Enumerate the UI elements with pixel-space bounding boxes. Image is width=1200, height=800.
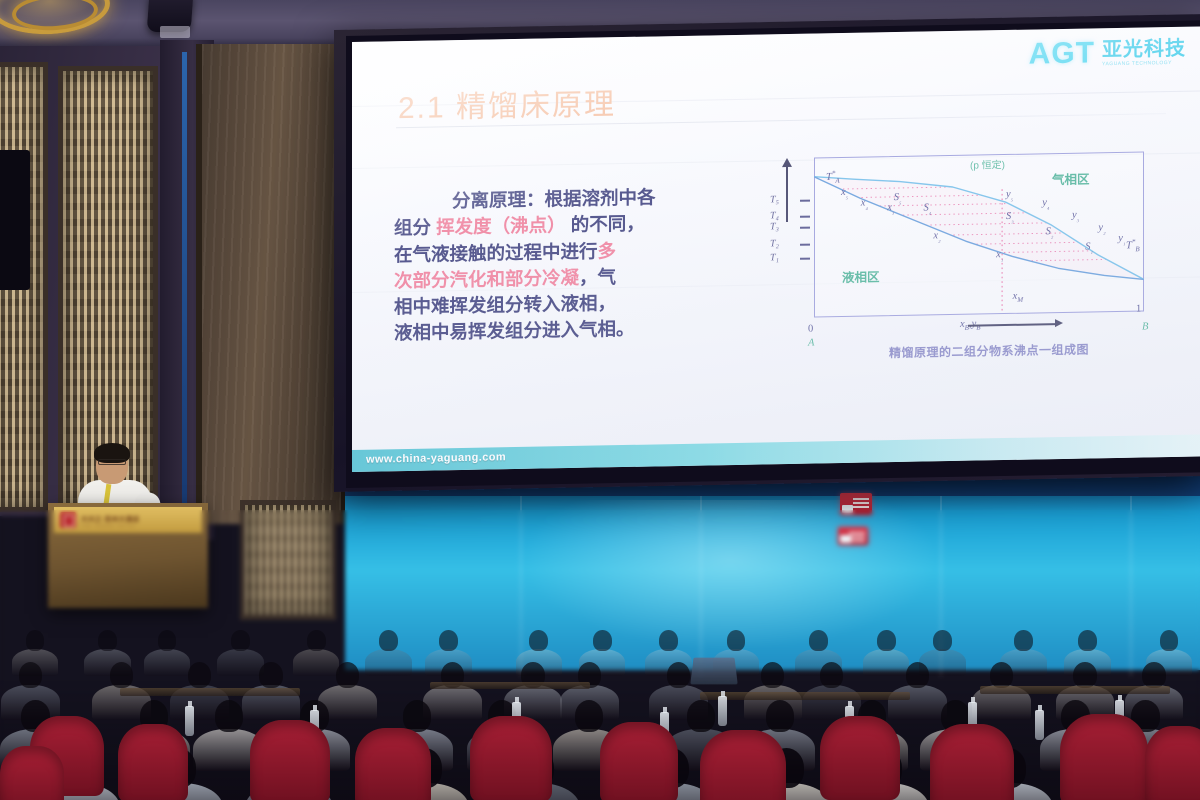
- liquid-composition-label: x₂: [933, 230, 940, 243]
- audience-shoulders: [888, 685, 947, 720]
- water-bottle: [1035, 710, 1044, 740]
- stage-label: S₁: [1085, 241, 1093, 254]
- audience-head: [307, 630, 326, 651]
- vapor-composition-label: y₂: [1098, 222, 1105, 235]
- audience-head: [761, 662, 784, 688]
- body-text-segment: ，气: [579, 266, 616, 288]
- body-line: 液相中易挥发组分进入气相。: [394, 314, 754, 347]
- presenter-glasses-icon: [98, 459, 126, 465]
- vapor-composition-label: y₃: [1072, 210, 1079, 223]
- audience-head: [990, 662, 1013, 688]
- body-text-segment: 组分: [394, 217, 436, 239]
- audience-head: [1160, 630, 1179, 651]
- audience-head: [687, 700, 716, 732]
- axis-tick: [800, 244, 810, 246]
- audience-chair: [700, 730, 786, 800]
- audience-shoulders: [863, 649, 910, 677]
- stage-label: S₃: [1006, 211, 1014, 224]
- axis-tick: [800, 227, 810, 229]
- audience-head: [593, 630, 612, 651]
- vapor-region-label: 气相区: [1052, 168, 1090, 188]
- audience-chair: [1060, 714, 1148, 800]
- audience-head: [19, 662, 42, 688]
- boiling-point-a-label: T*A: [826, 169, 840, 185]
- vapor-composition-label: y₅: [1006, 188, 1013, 201]
- audience-head: [1014, 630, 1033, 651]
- audience-chair: [250, 720, 330, 800]
- stage-label: S₄: [924, 203, 932, 216]
- water-bottle: [718, 696, 727, 726]
- wood-grain: [202, 44, 341, 524]
- audience-head: [667, 662, 690, 688]
- y-tick-label-t3: T₃: [770, 221, 779, 232]
- pressure-condition-label: (p 恒定): [970, 156, 1005, 172]
- boiling-point-b-label: T*B: [1126, 238, 1140, 254]
- conference-table: [120, 688, 300, 696]
- water-bottle: [185, 706, 194, 736]
- liquid-composition-label: x₄: [861, 198, 868, 211]
- wood-column: [196, 44, 346, 524]
- company-logo: AGT 亚光科技 YAGUANG TECHNOLOGY: [1029, 37, 1186, 70]
- audience-head: [231, 630, 250, 651]
- audience-chair: [0, 746, 64, 800]
- audience-head: [439, 630, 458, 651]
- body-text-segment: 根据溶剂中各: [545, 186, 656, 209]
- blue-accent-strip: [182, 52, 187, 522]
- audience-head: [98, 630, 117, 651]
- audience-head: [26, 630, 45, 651]
- exit-sign-glyph-icon: [853, 497, 869, 508]
- audience-chair: [470, 716, 552, 800]
- phase-diagram: T₅ T₄ T₃ T₂ T₁ (p 恒定) 气相区 液相区 T*A T*B 0 …: [770, 145, 1170, 362]
- y-tick-label-t4: T₄: [770, 210, 779, 221]
- audience-chair: [1145, 726, 1200, 800]
- audience-head: [659, 630, 678, 651]
- audience-head: [1073, 662, 1096, 688]
- x-axis-arrow: [968, 323, 1056, 326]
- body-text-segment: 在气液接触的过程中进行: [394, 240, 598, 265]
- body-text-segment: 相中难挥发组分转入液相，: [394, 292, 616, 317]
- audience-chair: [930, 724, 1014, 800]
- audience-shoulders: [144, 649, 191, 677]
- logo-subtitle-text: YAGUANG TECHNOLOGY: [1102, 59, 1186, 67]
- body-text-segment: 液相中易挥发组分进入气相。: [394, 318, 635, 343]
- y-tick-label-t2: T₂: [770, 238, 779, 249]
- audience-shoulders: [293, 649, 340, 677]
- audience-head: [1078, 630, 1097, 651]
- liquid-region-label: 液相区: [842, 266, 880, 286]
- feed-composition-label: xM: [1013, 291, 1024, 304]
- audience-shoulders: [365, 649, 412, 677]
- audience-head: [933, 630, 952, 651]
- liquid-composition-label: x₅: [841, 187, 848, 200]
- conference-table: [430, 682, 590, 689]
- liquid-composition-label: x₁: [996, 249, 1003, 262]
- audience-head: [158, 630, 177, 651]
- footer-website-url: www.china-yaguang.com: [366, 451, 506, 466]
- slide-body-text: 分离原理：根据溶剂中各组分 挥发度（沸点） 的不同，在气液接触的过程中进行多次部…: [394, 183, 754, 347]
- conference-hall-photo: AGT 亚光科技 YAGUANG TECHNOLOGY 2.1 精馏床原理 分离…: [0, 0, 1200, 800]
- axis-tick: [800, 216, 810, 218]
- axis-tick: [800, 258, 810, 260]
- audience-head: [906, 662, 929, 688]
- ceiling-vent: [160, 26, 190, 38]
- stage-label: S₅: [894, 192, 902, 205]
- audience-head: [259, 662, 282, 688]
- audience-head: [575, 700, 604, 732]
- audience-head: [809, 630, 828, 651]
- audience-head: [877, 630, 896, 651]
- audience-head: [820, 662, 843, 688]
- audience-chair: [820, 716, 900, 800]
- axis-tick: [800, 200, 810, 202]
- x-axis-max-label: 1: [1136, 304, 1141, 315]
- audience-head: [336, 662, 359, 688]
- slide-title: 2.1 精馏床原理: [398, 79, 616, 127]
- body-text-segment: 多: [598, 240, 617, 261]
- audience-chair: [118, 724, 188, 800]
- audience-head: [529, 630, 548, 651]
- body-text-segment: 挥发度（沸点）: [436, 214, 566, 237]
- y-tick-label-t5: T₅: [770, 194, 779, 205]
- audience-head: [379, 630, 398, 651]
- phase-curves: [814, 151, 1144, 317]
- audience-laptop: [690, 658, 737, 685]
- audience-head: [1142, 662, 1165, 688]
- component-a-label: A: [808, 338, 814, 349]
- audience-chair: [600, 722, 678, 800]
- audience-head: [188, 662, 211, 688]
- conference-table: [700, 692, 910, 700]
- audience: [0, 510, 1200, 800]
- audience-shoulders: [423, 685, 482, 720]
- x-axis-min-label: 0: [808, 324, 813, 335]
- audience-head: [727, 630, 746, 651]
- y-tick-label-t1: T₁: [770, 252, 779, 263]
- temperature-axis-arrow: [786, 166, 788, 222]
- body-text-segment: 分离原理：: [452, 188, 545, 211]
- component-b-label: B: [1142, 321, 1148, 332]
- stage-label: S₂: [1046, 226, 1054, 239]
- audience-shoulders: [217, 649, 264, 677]
- body-text-segment: 次部分汽化和部分冷凝: [394, 267, 579, 291]
- conference-table: [980, 686, 1170, 694]
- vapor-composition-label: y₄: [1042, 197, 1049, 210]
- vapor-composition-label: y₁: [1118, 233, 1125, 246]
- logo-agt-text: AGT: [1029, 38, 1095, 69]
- body-text-segment: 的不同，: [566, 213, 645, 235]
- diagram-caption: 精馏原理的二组分物系沸点一组成图: [824, 339, 1154, 362]
- audience-chair: [355, 728, 431, 800]
- audience-head: [110, 662, 133, 688]
- audience-head: [403, 700, 432, 732]
- logo-chinese-text: 亚光科技: [1102, 38, 1186, 61]
- audience-head: [766, 700, 795, 732]
- presentation-slide: AGT 亚光科技 YAGUANG TECHNOLOGY 2.1 精馏床原理 分离…: [352, 26, 1200, 472]
- audience-head: [215, 700, 244, 732]
- wall-monitor: [0, 150, 30, 290]
